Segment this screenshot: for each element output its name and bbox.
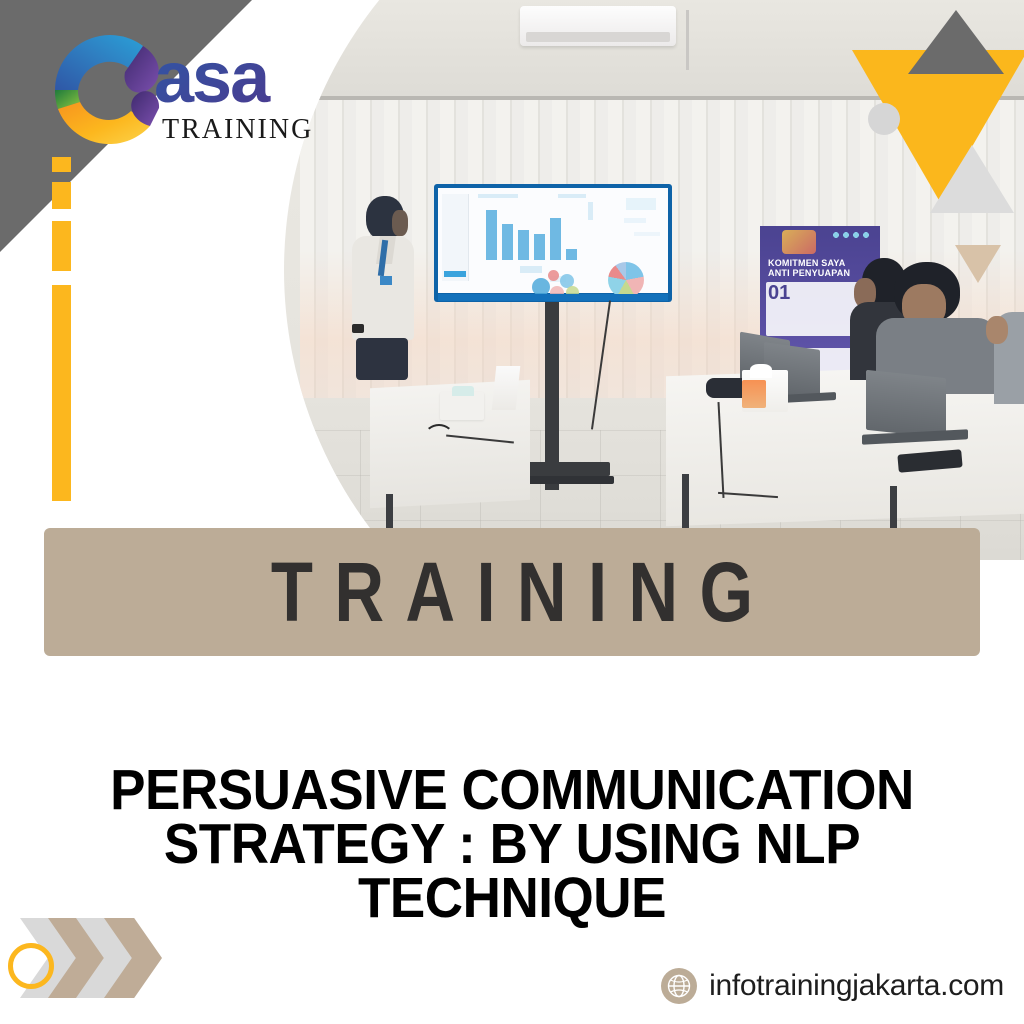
training-banner: TRAINING (44, 528, 980, 656)
bar-chart (486, 210, 574, 260)
orange-ring (8, 943, 54, 989)
air-conditioner (520, 6, 676, 46)
presenter-person (352, 196, 418, 376)
asa-training-logo: asa TRAINING (30, 14, 330, 160)
orange-bar-2 (52, 182, 71, 209)
svg-text:TRAINING: TRAINING (162, 114, 313, 145)
banner-headline-1: KOMITMEN SAYA (768, 258, 845, 268)
tissue-box (742, 370, 788, 412)
website-url[interactable]: infotrainingjakarta.com (709, 969, 1004, 1003)
participant-3 (986, 292, 1024, 402)
laptop-3 (866, 374, 966, 444)
globe-icon (661, 968, 697, 1004)
participant-2 (880, 262, 990, 388)
training-banner-label: TRAINING (250, 544, 775, 641)
website-row[interactable]: infotrainingjakarta.com (661, 968, 1004, 1004)
svg-text:asa: asa (154, 38, 271, 118)
gray-circle (868, 103, 900, 135)
orange-bar-4 (52, 285, 71, 501)
poster-canvas: KOMITMEN SAYAANTI PENYUAPAN 01 02 03 (0, 0, 1024, 1024)
banner-step-1: 01 (768, 282, 790, 305)
pie-chart (608, 262, 644, 298)
page-title: PERSUASIVE COMMUNICATION STRATEGY : BY U… (82, 763, 941, 925)
title-line-3: TECHNIQUE (82, 871, 941, 925)
logo-mark-icon: asa TRAINING (30, 14, 330, 164)
title-line-2: STRATEGY : BY USING NLP (82, 817, 941, 871)
banner-headline-2: ANTI PENYUAPAN (768, 268, 850, 278)
presentation-screen (434, 184, 672, 302)
title-line-1: PERSUASIVE COMMUNICATION (82, 763, 941, 817)
orange-bar-3 (52, 221, 71, 271)
